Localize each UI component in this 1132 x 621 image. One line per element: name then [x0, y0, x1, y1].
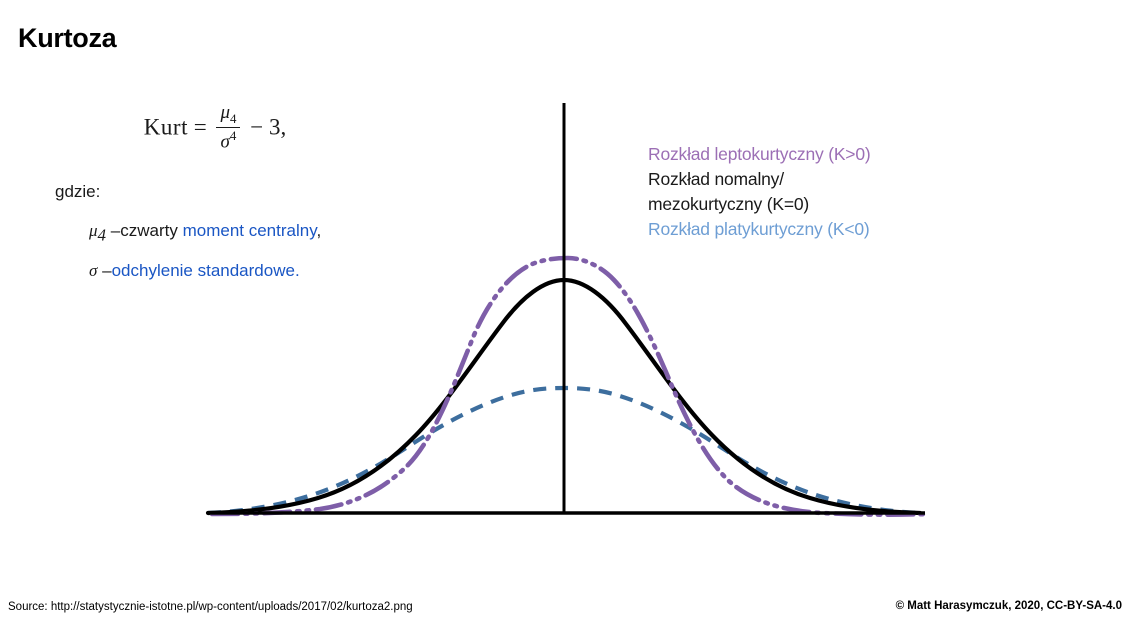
curve-leptokurtic [212, 258, 928, 515]
formula-denominator: σ4 [216, 128, 240, 153]
kurtosis-formula: Kurt = μ4 σ4 − 3, [65, 104, 365, 154]
definition-tail: . [295, 261, 300, 280]
definition-link-odchylenie-standardowe[interactable]: odchylenie standardowe [112, 261, 295, 280]
mu-subscript: 4 [230, 111, 236, 126]
legend-item-platykurtic: Rozkład platykurtyczny (K<0) [648, 217, 948, 242]
formula-lhs: Kurt [144, 114, 188, 139]
definitions-list: μ4 –czwarty moment centralny, σ –odchyle… [55, 220, 415, 282]
definition-link-moment-centralny[interactable]: moment centralny [183, 221, 317, 240]
formula-equals: = [194, 114, 207, 139]
definition-symbol-subscript: 4 [98, 226, 107, 245]
page-title: Kurtoza [18, 24, 116, 54]
legend-item-mesokurtic-line2: mezokurtyczny (K=0) [648, 192, 948, 217]
source-url: Source: http://statystycznie-istotne.pl/… [8, 601, 413, 613]
formula-fraction: μ4 σ4 [216, 103, 240, 153]
sigma-superscript: 4 [230, 128, 236, 143]
definition-row-sigma: σ –odchylenie standardowe. [89, 260, 415, 283]
definition-tail: , [316, 221, 321, 240]
copyright-notice: © Matt Harasymczuk, 2020, CC-BY-SA-4.0 [896, 600, 1122, 612]
formula-minus: − [250, 114, 263, 139]
definition-plain-text: czwarty [120, 221, 182, 240]
mu-symbol: μ [220, 102, 230, 123]
definition-symbol: μ [89, 221, 98, 240]
formula-numerator: μ4 [216, 103, 240, 128]
definition-row-mu: μ4 –czwarty moment centralny, [89, 220, 415, 247]
legend-item-leptokurtic: Rozkład leptokurtyczny (K>0) [648, 142, 948, 167]
formula-block: Kurt = μ4 σ4 − 3, gdzie: μ4 –czwarty mom… [55, 104, 415, 294]
chart-legend: Rozkład leptokurtyczny (K>0) Rozkład nom… [648, 142, 948, 242]
formula-constant: 3, [269, 114, 286, 139]
definition-dash: – [111, 221, 120, 240]
gdzie-label: gdzie: [55, 182, 415, 202]
sigma-symbol: σ [221, 131, 230, 152]
definition-dash: – [102, 261, 111, 280]
definition-symbol: σ [89, 261, 97, 280]
legend-item-mesokurtic-line1: Rozkład nomalny/ [648, 167, 948, 192]
